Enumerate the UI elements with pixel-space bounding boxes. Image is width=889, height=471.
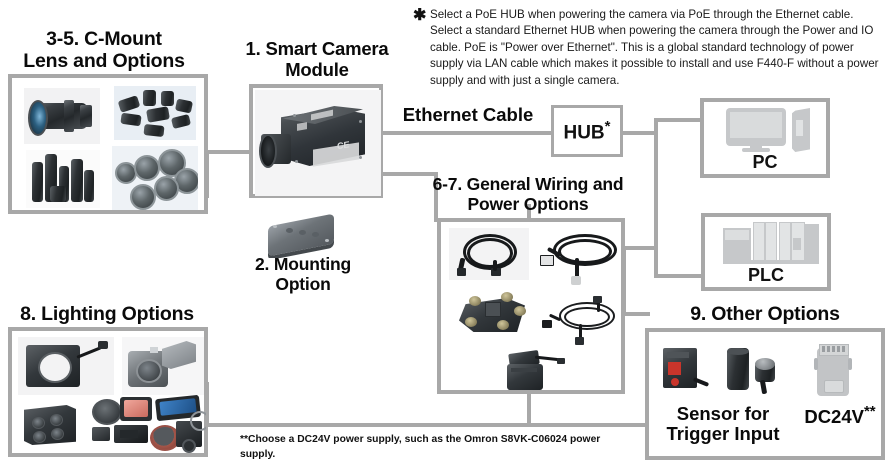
photo-sensor-barrels: [723, 340, 787, 400]
group-title-other-line1: 9. Other Options: [645, 303, 885, 325]
group-box-lens[interactable]: [8, 74, 208, 214]
group-title-lens: 3-5. C-Mount Lens and Options: [8, 28, 200, 72]
group-title-lighting-line1: 8. Lighting Options: [8, 303, 206, 325]
connector-lighting-to-other: [205, 423, 649, 427]
photo-smart-camera: CE: [255, 90, 381, 196]
node-label-hub: HUB*: [554, 118, 620, 144]
node-box-plc[interactable]: PLC: [701, 213, 831, 291]
group-title-lens-line1: 3-5. C-Mount: [8, 28, 200, 50]
group-title-mounting-line1: 2. Mounting: [242, 255, 364, 275]
group-title-lighting: 8. Lighting Options: [8, 303, 206, 325]
photo-ethernet-cable: [449, 228, 529, 280]
connector-camera-to-hub: [381, 131, 555, 135]
group-title-camera-line1: 1. Smart Camera: [238, 38, 396, 59]
connector-trunk-to-plc: [654, 274, 704, 278]
node-label-plc: PLC: [705, 265, 827, 286]
group-title-mounting: 2. Mounting Option: [242, 255, 364, 295]
photo-lighting-accessories: [90, 395, 206, 453]
group-title-mounting-line2: Option: [242, 275, 364, 295]
connector-right-trunk: [654, 118, 658, 278]
photo-coaxial-light: [122, 337, 204, 395]
photo-lens-tubes: [26, 150, 100, 208]
photo-junction-block: [451, 284, 537, 346]
node-box-hub[interactable]: HUB*: [551, 105, 623, 157]
node-box-pc[interactable]: PC: [700, 98, 830, 178]
icon-plc: [723, 222, 821, 266]
group-title-other: 9. Other Options: [645, 303, 885, 325]
footnote-dc24v: **Choose a DC24V power supply, such as t…: [240, 432, 630, 463]
group-box-camera[interactable]: CE: [249, 84, 383, 198]
photo-ring-light: [18, 337, 114, 395]
group-box-other[interactable]: Sensor for Trigger Input DC24V**: [645, 328, 885, 460]
diagram-canvas: ✱ Select a PoE HUB when powering the cam…: [0, 0, 889, 471]
group-box-wiring[interactable]: [437, 218, 625, 394]
connector-lens-to-camera: [205, 150, 253, 154]
note-asterisk: ✱: [413, 8, 426, 24]
connector-hub-to-trunk: [620, 131, 658, 135]
photo-lens-group: [114, 86, 196, 140]
photo-filters: [112, 146, 198, 210]
label-sensor-trigger-line2: Trigger Input: [655, 424, 791, 444]
label-dc24v-superscript: **: [864, 403, 876, 420]
node-label-pc: PC: [704, 152, 826, 173]
connector-wiring-bottom: [527, 392, 531, 425]
group-box-lighting[interactable]: [8, 327, 208, 457]
photo-mounting-plate: [262, 214, 342, 258]
node-label-hub-text: HUB: [563, 122, 604, 143]
group-title-wiring-line2: Power Options: [412, 195, 644, 215]
group-title-lens-line2: Lens and Options: [8, 50, 200, 72]
photo-io-cable: [539, 230, 621, 292]
label-dc24v: DC24V**: [795, 404, 885, 428]
group-title-wiring: 6-7. General Wiring and Power Options: [412, 175, 644, 215]
label-ethernet-cable: Ethernet Cable: [392, 105, 544, 125]
photo-power-adapter: [499, 346, 575, 394]
label-sensor-trigger: Sensor for Trigger Input: [655, 404, 791, 445]
photo-light-controller: [18, 399, 90, 451]
photo-trigger-sensor: [659, 340, 721, 400]
node-label-hub-superscript: *: [605, 118, 611, 135]
label-dc24v-text: DC24V: [804, 406, 864, 427]
icon-pc: [726, 106, 818, 154]
connector-trunk-to-pc: [654, 118, 702, 122]
photo-short-cable: [541, 296, 621, 348]
poe-note-text: Select a PoE HUB when powering the camer…: [430, 7, 886, 89]
photo-dc24v-supply: [805, 340, 865, 402]
photo-cmount-lens: [24, 88, 100, 144]
group-title-camera: 1. Smart Camera Module: [238, 38, 396, 80]
group-title-wiring-line1: 6-7. General Wiring and: [412, 175, 644, 195]
group-title-camera-line2: Module: [238, 59, 396, 80]
connector-wiring-to-trunk: [622, 246, 658, 250]
label-sensor-trigger-line1: Sensor for: [655, 404, 791, 424]
